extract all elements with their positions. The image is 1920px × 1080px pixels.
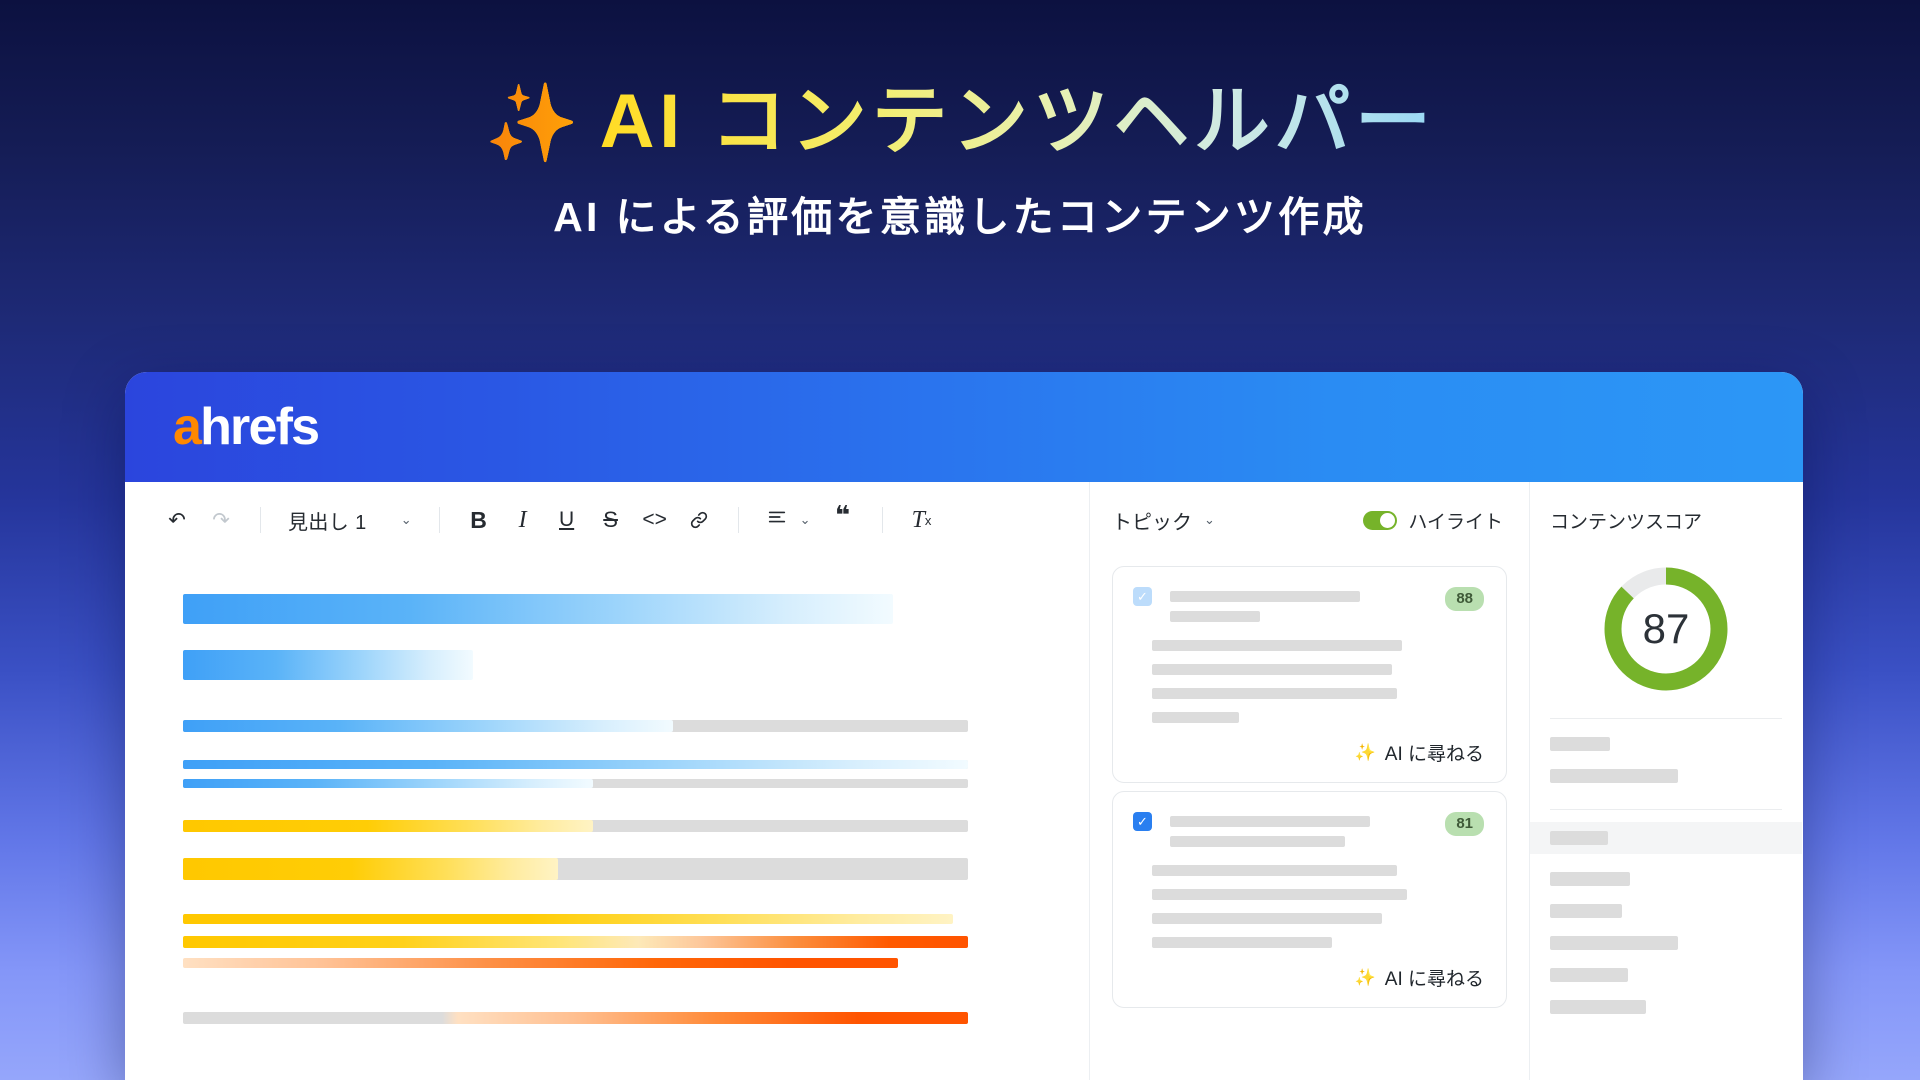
topic-card-body [1133, 640, 1484, 723]
skeleton-line [1170, 591, 1360, 602]
page-title: ✨AI コンテンツヘルパー [0, 0, 1920, 167]
ask-ai-button[interactable]: ✨AI に尋ねる [1133, 739, 1484, 766]
score-row[interactable] [1550, 936, 1782, 950]
topic-card-list: ✓88✨AI に尋ねる✓81✨AI に尋ねる [1090, 566, 1529, 1008]
topic-checkbox[interactable]: ✓ [1133, 812, 1152, 831]
editor-block[interactable] [183, 594, 1049, 624]
editor-block-fill [183, 914, 953, 924]
underline-button[interactable]: U [545, 500, 589, 540]
ahrefs-logo[interactable]: ahrefs [173, 401, 318, 453]
editor-block-fill [183, 1012, 968, 1024]
strikethrough-button[interactable]: S [589, 500, 633, 540]
editor-block-fill [183, 779, 593, 788]
content-score-gauge: 87 [1601, 564, 1731, 694]
skeleton-line [1550, 769, 1678, 783]
skeleton-line [1550, 737, 1610, 751]
editor-block[interactable] [183, 936, 1049, 948]
highlight-label: ハイライト [1408, 507, 1503, 534]
editor-block-fill [183, 958, 898, 968]
sparkle-icon: ✨ [1355, 968, 1376, 988]
skeleton-line [1152, 688, 1397, 699]
page-subtitle: AI による評価を意識したコンテンツ作成 [0, 183, 1920, 243]
highlight-toggle[interactable]: ハイライト [1363, 507, 1503, 534]
editor-pane: ↶ ↷ 見出し 1 ⌄ B I U S <> [125, 482, 1090, 1080]
logo-rest: hrefs [200, 398, 318, 456]
heading-style-label: 見出し 1 [288, 506, 367, 535]
score-row[interactable] [1550, 872, 1782, 886]
page-root: ✨AI コンテンツヘルパー AI による評価を意識したコンテンツ作成 ahref… [0, 0, 1920, 1080]
skeleton-line [1170, 836, 1345, 847]
align-chevron-down-icon: ⌄ [800, 512, 811, 528]
align-dropdown[interactable]: ⌄ [756, 500, 821, 540]
skeleton-line [1550, 872, 1630, 886]
toolbar-divider-3 [738, 507, 739, 533]
score-row[interactable] [1550, 904, 1782, 918]
skeleton-line [1550, 1000, 1646, 1014]
sparkle-icon: ✨ [1355, 743, 1376, 763]
ask-ai-label: AI に尋ねる [1385, 739, 1484, 766]
toolbar-divider-1 [260, 507, 261, 533]
editor-block-fill [183, 650, 473, 680]
align-left-icon [766, 506, 788, 534]
topic-title-lines [1170, 812, 1417, 847]
skeleton-line [1152, 664, 1392, 675]
score-row[interactable] [1550, 968, 1782, 982]
editor-toolbar: ↶ ↷ 見出し 1 ⌄ B I U S <> [125, 482, 1089, 558]
editor-block[interactable] [183, 720, 1049, 732]
content-score-title: コンテンツスコア [1530, 482, 1802, 558]
editor-block-fill [183, 760, 968, 769]
editor-block-fill [183, 594, 893, 624]
topic-card-header: ✓88 [1133, 587, 1484, 622]
skeleton-line [1152, 913, 1382, 924]
topic-card-body [1133, 865, 1484, 948]
bold-button[interactable]: B [457, 500, 501, 540]
link-icon[interactable] [677, 500, 721, 540]
topics-dropdown[interactable]: トピック ⌄ [1112, 506, 1215, 535]
topics-header: トピック ⌄ ハイライト [1090, 482, 1529, 558]
app-body: ↶ ↷ 見出し 1 ⌄ B I U S <> [125, 482, 1803, 1080]
score-divider-1 [1550, 718, 1782, 719]
score-divider-2 [1550, 809, 1782, 810]
skeleton-line [1550, 968, 1628, 982]
skeleton-line [1170, 816, 1370, 827]
topic-title-lines [1170, 587, 1417, 622]
editor-block-fill [183, 858, 558, 880]
editor-block-fill [183, 820, 593, 832]
editor-block-fill [183, 720, 673, 732]
italic-button[interactable]: I [501, 500, 545, 540]
score-row-list [1530, 737, 1802, 1014]
redo-button[interactable]: ↷ [199, 500, 243, 540]
skeleton-line [1550, 904, 1622, 918]
app-header-bar: ahrefs [125, 372, 1803, 482]
score-row-highlighted[interactable] [1530, 822, 1802, 854]
editor-block[interactable] [183, 760, 1049, 769]
skeleton-line [1152, 889, 1407, 900]
undo-button[interactable]: ↶ [155, 500, 199, 540]
skeleton-line [1550, 936, 1678, 950]
toggle-switch[interactable] [1363, 511, 1397, 530]
skeleton-line [1152, 712, 1239, 723]
editor-canvas[interactable] [125, 558, 1089, 1024]
toolbar-divider-4 [882, 507, 883, 533]
content-score-value: 87 [1601, 564, 1731, 694]
topic-score-badge: 81 [1445, 812, 1484, 836]
topics-label: トピック [1112, 506, 1192, 535]
page-title-text: AI コンテンツヘルパー [600, 79, 1436, 164]
topic-score-badge: 88 [1445, 587, 1484, 611]
editor-block-fill [183, 936, 968, 948]
hero-section: ✨AI コンテンツヘルパー AI による評価を意識したコンテンツ作成 [0, 0, 1920, 243]
score-gauge-wrap: 87 [1530, 558, 1802, 694]
topics-chevron-down-icon: ⌄ [1204, 512, 1215, 528]
skeleton-line [1550, 831, 1608, 845]
score-row[interactable] [1550, 1000, 1782, 1014]
editor-block[interactable] [183, 914, 1049, 924]
editor-block[interactable] [183, 1012, 1049, 1024]
skeleton-line [1152, 937, 1332, 948]
app-window: ahrefs ↶ ↷ 見出し 1 ⌄ B I U S [125, 372, 1803, 1080]
topics-pane: トピック ⌄ ハイライト ✓88✨AI に尋ねる✓81✨AI に尋ねる [1090, 482, 1530, 1080]
code-button[interactable]: <> [633, 500, 677, 540]
score-row[interactable] [1550, 737, 1782, 751]
heading-style-dropdown[interactable]: 見出し 1 ⌄ [278, 500, 422, 540]
editor-block[interactable] [183, 779, 1049, 788]
blockquote-button[interactable]: ❝ [821, 495, 865, 545]
logo-accent-letter: a [173, 398, 200, 456]
skeleton-line [1170, 611, 1260, 622]
clear-formatting-button[interactable]: Tx [900, 500, 944, 540]
editor-block[interactable] [183, 958, 1049, 968]
editor-block[interactable] [183, 858, 1049, 880]
ask-ai-label: AI に尋ねる [1385, 964, 1484, 991]
editor-block[interactable] [183, 820, 1049, 832]
score-pane: コンテンツスコア 87 [1530, 482, 1802, 1080]
score-row[interactable] [1550, 769, 1782, 783]
skeleton-line [1152, 865, 1397, 876]
toolbar-divider-2 [439, 507, 440, 533]
editor-block[interactable] [183, 650, 1049, 680]
topic-checkbox[interactable]: ✓ [1133, 587, 1152, 606]
sparkle-icon: ✨ [484, 80, 583, 167]
skeleton-line [1152, 640, 1402, 651]
topic-card[interactable]: ✓88✨AI に尋ねる [1112, 566, 1507, 783]
topic-card[interactable]: ✓81✨AI に尋ねる [1112, 791, 1507, 1008]
topic-card-header: ✓81 [1133, 812, 1484, 847]
ask-ai-button[interactable]: ✨AI に尋ねる [1133, 964, 1484, 991]
chevron-down-icon: ⌄ [401, 512, 412, 528]
